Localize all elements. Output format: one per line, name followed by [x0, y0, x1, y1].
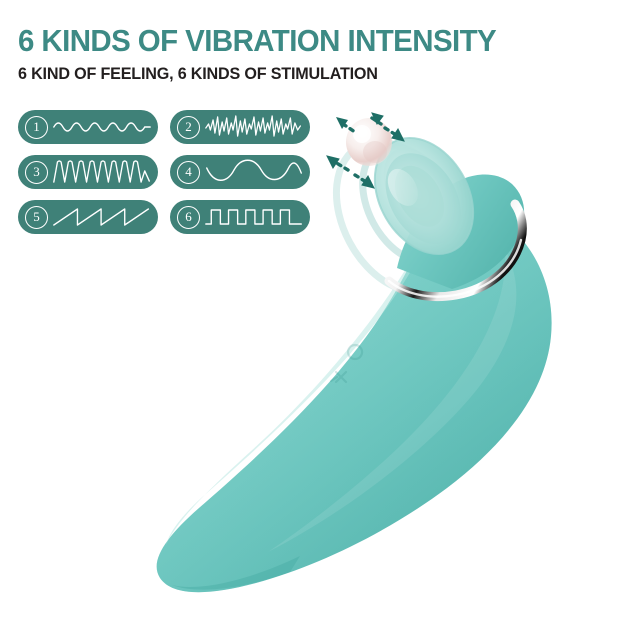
vibration-mode-3[interactable]: 3	[18, 155, 158, 189]
mode-number-5: 5	[25, 206, 48, 229]
mode-row-2: 3 4	[18, 155, 310, 189]
mode-number-4: 4	[177, 161, 200, 184]
waveform-sine-wide-icon	[204, 159, 304, 185]
vibration-mode-1[interactable]: 1	[18, 110, 158, 144]
waveform-tall-peaks-icon	[52, 159, 152, 185]
waveform-sawtooth-icon	[52, 204, 152, 230]
waveform-sine-small-icon	[52, 114, 152, 140]
mode-row-3: 5 6	[18, 200, 310, 234]
infographic-canvas: 6 KINDS OF VIBRATION INTENSITY 6 KIND OF…	[0, 0, 624, 624]
suction-arrow-top-tip	[336, 117, 355, 132]
vibration-mode-5[interactable]: 5	[18, 200, 158, 234]
product-illustration	[0, 0, 624, 624]
page-title: 6 KINDS OF VIBRATION INTENSITY	[18, 24, 588, 58]
mode-number-2: 2	[177, 116, 200, 139]
vibration-mode-4[interactable]: 4	[170, 155, 310, 189]
pearl-accent	[346, 118, 392, 166]
header-block: 6 KINDS OF VIBRATION INTENSITY 6 KIND OF…	[18, 24, 618, 84]
mode-number-6: 6	[177, 206, 200, 229]
waveform-square-icon	[204, 204, 304, 230]
vibration-mode-6[interactable]: 6	[170, 200, 310, 234]
page-subtitle: 6 KIND OF FEELING, 6 KINDS OF STIMULATIO…	[18, 64, 588, 84]
vibration-mode-2[interactable]: 2	[170, 110, 310, 144]
mode-row-1: 1 2	[18, 110, 310, 144]
mode-number-3: 3	[25, 161, 48, 184]
vibration-mode-grid: 1 2 3	[18, 110, 310, 245]
mode-number-1: 1	[25, 116, 48, 139]
waveform-noisy-spikes-icon	[204, 114, 304, 140]
